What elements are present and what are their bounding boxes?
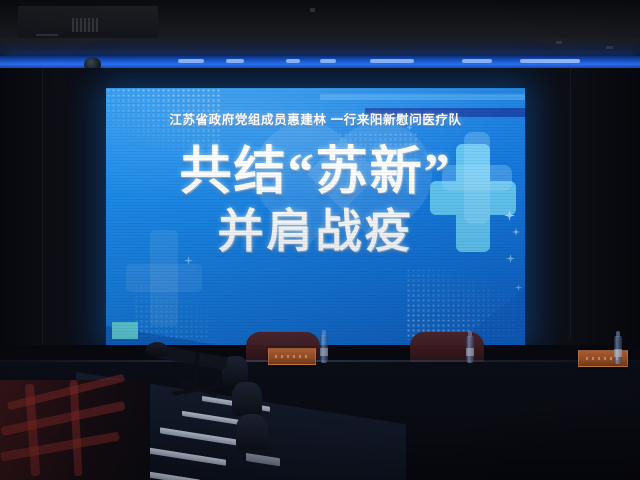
screen-subtitle: 江苏省政府党组成员惠建林 一行来阳新慰问医疗队 [106, 109, 525, 128]
screen-title-block: 共结“苏新” 并肩战疫 [106, 144, 525, 258]
placard-text-marks [275, 355, 308, 358]
led-presentation-screen: 江苏省政府党组成员惠建林 一行来阳新慰问医疗队 共结“苏新” 并肩战疫 [106, 88, 525, 345]
ceiling-vent-icon [72, 18, 98, 32]
wall-seam [42, 68, 43, 368]
audience-seat-back [69, 380, 82, 476]
water-bottle [466, 336, 474, 363]
audience-seat-row [0, 432, 120, 462]
left-wall-panel [0, 68, 106, 368]
light-glint [520, 59, 580, 63]
conference-hall-photo: 江苏省政府党组成员惠建林 一行来阳新慰问医疗队 共结“苏新” 并肩战疫 [0, 0, 640, 480]
light-glint [370, 59, 414, 63]
ceiling-speck [556, 41, 562, 44]
light-glint [462, 59, 492, 63]
sparkle-star-icon [515, 284, 522, 291]
water-bottle [320, 335, 328, 363]
right-wall-panel [525, 68, 640, 368]
wall-seam [570, 68, 571, 338]
screen-title-line-2: 并肩战疫 [106, 206, 525, 258]
ceiling-speck [606, 46, 613, 49]
light-glint [286, 59, 300, 63]
name-placard [268, 348, 316, 365]
water-bottle [614, 336, 622, 364]
audience-seating-area [0, 380, 150, 480]
document-paper [246, 453, 280, 466]
ceiling [0, 0, 640, 54]
ceiling-speck [310, 8, 315, 12]
bottle-label [320, 348, 328, 356]
bottle-label [466, 348, 474, 356]
bottle-label [614, 349, 622, 357]
light-glint [226, 59, 244, 63]
ceiling-speck [36, 34, 58, 36]
screen-corner-chip [112, 322, 138, 339]
microphone-head-icon [146, 342, 168, 357]
seated-figure-silhouette [236, 414, 268, 450]
seated-figure-silhouette [232, 382, 262, 416]
screen-top-accent-bar [320, 94, 525, 100]
screen-title-line-1: 共结“苏新” [106, 144, 525, 202]
document-paper [160, 427, 244, 446]
light-glint [178, 59, 204, 63]
light-glint [320, 59, 336, 63]
